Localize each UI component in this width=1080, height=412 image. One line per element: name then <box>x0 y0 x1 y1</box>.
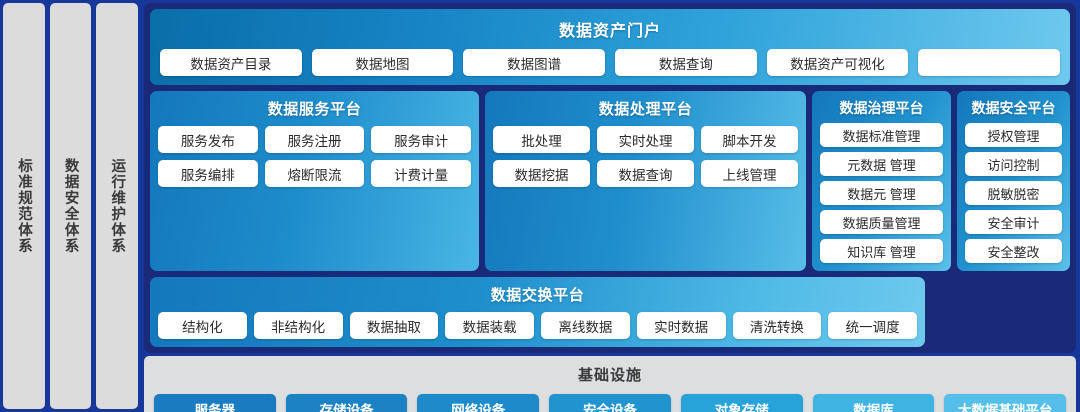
chip-data-loading[interactable]: 数据装载 <box>445 312 534 339</box>
chip-realtime-data[interactable]: 实时数据 <box>637 312 726 339</box>
chip-object-storage[interactable]: 对象存储 <box>681 394 803 412</box>
upper-layers-frame: 数据资产门户 数据资产目录 数据地图 数据图谱 数据查询 数据资产可视化 数据服… <box>144 3 1076 353</box>
chip-circuit-breaking[interactable]: 熔断限流 <box>265 160 365 187</box>
exchange-platform-title: 数据交换平台 <box>158 284 917 305</box>
pillar-data-security-system[interactable]: 数据安全体系 <box>50 3 92 409</box>
governance-platform-title: 数据治理平台 <box>820 98 943 118</box>
chip-offline-data[interactable]: 离线数据 <box>541 312 630 339</box>
chip-knowledge-base-management[interactable]: 知识库 管理 <box>820 239 943 263</box>
data-security-platform-card: 数据安全平台 授权管理 访问控制 脱敏脱密 安全审计 安全整改 <box>957 91 1070 271</box>
chip-storage-device[interactable]: 存储设备 <box>286 394 408 412</box>
data-asset-portal-card: 数据资产门户 数据资产目录 数据地图 数据图谱 数据查询 数据资产可视化 <box>150 9 1070 85</box>
processing-platform-title: 数据处理平台 <box>493 98 798 119</box>
chip-security-audit[interactable]: 安全审计 <box>965 210 1062 234</box>
portal-chip-empty[interactable] <box>918 49 1060 76</box>
exchange-platform-chips: 结构化 非结构化 数据抽取 数据装载 离线数据 实时数据 清洗转换 统一调度 <box>158 312 917 339</box>
chip-unified-scheduling[interactable]: 统一调度 <box>828 312 917 339</box>
chip-data-quality-management[interactable]: 数据质量管理 <box>820 210 943 234</box>
chip-server[interactable]: 服务器 <box>154 394 276 412</box>
service-platform-chips: 服务发布 服务注册 服务审计 服务编排 熔断限流 计费计量 <box>158 126 471 187</box>
portal-chip-data-query[interactable]: 数据查询 <box>615 49 757 76</box>
infrastructure-card: 基础设施 服务器 存储设备 网络设备 安全设备 对象存储 数据库 大数据基础平台 <box>144 356 1076 412</box>
main-stack: 数据资产门户 数据资产目录 数据地图 数据图谱 数据查询 数据资产可视化 数据服… <box>140 0 1080 412</box>
chip-batch-processing[interactable]: 批处理 <box>493 126 590 153</box>
data-processing-platform-card: 数据处理平台 批处理 实时处理 脚本开发 数据挖据 数据查询 上线管理 <box>485 91 806 271</box>
chip-database[interactable]: 数据库 <box>813 394 935 412</box>
data-governance-platform-card: 数据治理平台 数据标准管理 元数据 管理 数据元 管理 数据质量管理 知识库 管… <box>812 91 951 271</box>
chip-service-orchestration[interactable]: 服务编排 <box>158 160 258 187</box>
security-platform-title: 数据安全平台 <box>965 98 1062 118</box>
chip-security-rectification[interactable]: 安全整改 <box>965 239 1062 263</box>
processing-platform-chips: 批处理 实时处理 脚本开发 数据挖据 数据查询 上线管理 <box>493 126 798 187</box>
portal-chip-row: 数据资产目录 数据地图 数据图谱 数据查询 数据资产可视化 <box>160 49 1060 76</box>
chip-cleansing-transform[interactable]: 清洗转换 <box>733 312 822 339</box>
chip-access-control[interactable]: 访问控制 <box>965 152 1062 176</box>
portal-chip-asset-catalog[interactable]: 数据资产目录 <box>160 49 302 76</box>
pillar-label: 数据安全体系 <box>62 158 78 254</box>
data-exchange-platform-card: 数据交换平台 结构化 非结构化 数据抽取 数据装载 离线数据 实时数据 清洗转换… <box>150 277 925 347</box>
chip-desensitization[interactable]: 脱敏脱密 <box>965 181 1062 205</box>
chip-release-management[interactable]: 上线管理 <box>701 160 798 187</box>
portal-chip-data-graph[interactable]: 数据图谱 <box>463 49 605 76</box>
chip-metadata-management[interactable]: 元数据 管理 <box>820 152 943 176</box>
chip-structured[interactable]: 结构化 <box>158 312 247 339</box>
chip-security-device[interactable]: 安全设备 <box>549 394 671 412</box>
chip-service-audit[interactable]: 服务审计 <box>371 126 471 153</box>
chip-script-development[interactable]: 脚本开发 <box>701 126 798 153</box>
chip-data-standard-management[interactable]: 数据标准管理 <box>820 123 943 147</box>
infrastructure-title: 基础设施 <box>154 364 1066 385</box>
chip-authorization-management[interactable]: 授权管理 <box>965 123 1062 147</box>
chip-service-register[interactable]: 服务注册 <box>265 126 365 153</box>
pillar-standards-system[interactable]: 标准规范体系 <box>3 3 45 409</box>
pillar-operations-maintenance-system[interactable]: 运行维护体系 <box>96 3 138 409</box>
platform-tier: 数据服务平台 服务发布 服务注册 服务审计 服务编排 熔断限流 计费计量 数据处… <box>150 91 1070 271</box>
vertical-pillars-panel: 标准规范体系 数据安全体系 运行维护体系 <box>0 0 140 412</box>
data-service-platform-card: 数据服务平台 服务发布 服务注册 服务审计 服务编排 熔断限流 计费计量 <box>150 91 479 271</box>
security-platform-chips: 授权管理 访问控制 脱敏脱密 安全审计 安全整改 <box>965 123 1062 263</box>
chip-data-mining[interactable]: 数据挖据 <box>493 160 590 187</box>
chip-unstructured[interactable]: 非结构化 <box>254 312 343 339</box>
chip-service-publish[interactable]: 服务发布 <box>158 126 258 153</box>
pillar-label: 标准规范体系 <box>16 158 32 254</box>
chip-bigdata-platform[interactable]: 大数据基础平台 <box>944 394 1066 412</box>
chip-realtime-processing[interactable]: 实时处理 <box>597 126 694 153</box>
chip-data-element-management[interactable]: 数据元 管理 <box>820 181 943 205</box>
service-platform-title: 数据服务平台 <box>158 98 471 119</box>
governance-platform-chips: 数据标准管理 元数据 管理 数据元 管理 数据质量管理 知识库 管理 <box>820 123 943 263</box>
portal-title: 数据资产门户 <box>160 17 1060 41</box>
chip-data-query[interactable]: 数据查询 <box>597 160 694 187</box>
chip-billing-metering[interactable]: 计费计量 <box>371 160 471 187</box>
chip-data-extraction[interactable]: 数据抽取 <box>350 312 439 339</box>
architecture-diagram: 标准规范体系 数据安全体系 运行维护体系 数据资产门户 数据资产目录 数据地图 … <box>0 0 1080 412</box>
portal-chip-data-map[interactable]: 数据地图 <box>312 49 454 76</box>
chip-network-device[interactable]: 网络设备 <box>417 394 539 412</box>
pillar-label: 运行维护体系 <box>109 158 125 254</box>
infrastructure-chips: 服务器 存储设备 网络设备 安全设备 对象存储 数据库 大数据基础平台 <box>154 394 1066 412</box>
portal-chip-asset-visualization[interactable]: 数据资产可视化 <box>767 49 909 76</box>
